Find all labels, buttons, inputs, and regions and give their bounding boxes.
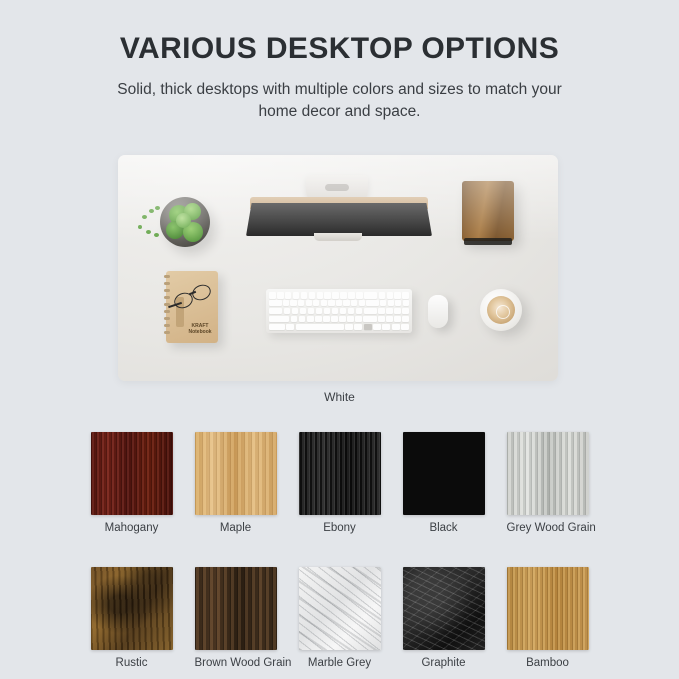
coffee-surface [487, 296, 515, 324]
keyboard-row [269, 324, 409, 331]
swatch-grid: Mahogany Maple Ebony Black Grey Wood Gra… [0, 432, 679, 671]
swatch-color-ebony[interactable] [299, 432, 381, 515]
swatch-label: Maple [195, 522, 277, 536]
plant-tendril [138, 225, 142, 229]
hero-caption: White [0, 390, 679, 404]
swatch-item-brown-wood-grain[interactable]: Brown Wood Grain [195, 567, 277, 671]
keyboard-row [269, 308, 409, 315]
monitor-foot [314, 233, 362, 241]
plant-tendril [154, 233, 159, 237]
swatch-color-graphite[interactable] [403, 567, 485, 650]
monitor-screen [246, 203, 432, 236]
plant-tendril [149, 209, 154, 213]
succulent-leaf [176, 213, 191, 228]
plant-tendril [155, 206, 160, 210]
kraft-notebook: KRAFT Notebook [166, 271, 218, 343]
wooden-storage-box [462, 181, 514, 241]
eyeglasses-icon [172, 283, 218, 313]
swatch-color-maple[interactable] [195, 432, 277, 515]
coffee-cup [480, 289, 522, 331]
swatch-color-rustic[interactable] [91, 567, 173, 650]
potted-plant-icon [160, 197, 210, 247]
hero-desk-photo: KRAFT Notebook [118, 155, 558, 381]
swatch-color-mahogany[interactable] [91, 432, 173, 515]
header: VARIOUS DESKTOP OPTIONS Solid, thick des… [0, 0, 679, 124]
swatch-label: Grey Wood Grain [507, 522, 589, 536]
swatch-row-2: Rustic Brown Wood Grain Marble Grey Grap… [0, 567, 679, 671]
swatch-label: Ebony [299, 522, 381, 536]
keyboard-row [269, 300, 409, 307]
swatch-label: Rustic [91, 657, 173, 671]
swatch-item-rustic[interactable]: Rustic [91, 567, 173, 671]
swatch-item-marble-grey[interactable]: Marble Grey [299, 567, 381, 671]
page-title: VARIOUS DESKTOP OPTIONS [0, 32, 679, 65]
plant-tendril [146, 230, 151, 234]
swatch-label: Mahogany [91, 522, 173, 536]
swatch-label: Bamboo [507, 657, 589, 671]
swatch-color-brown-wood-grain[interactable] [195, 567, 277, 650]
swatch-item-bamboo[interactable]: Bamboo [507, 567, 589, 671]
swatch-item-grey-wood-grain[interactable]: Grey Wood Grain [507, 432, 589, 536]
swatch-item-black[interactable]: Black [403, 432, 485, 536]
swatch-label: Black [403, 522, 485, 536]
swatch-label: Graphite [403, 657, 485, 671]
latte-swirl [496, 305, 510, 319]
notebook-label: KRAFT Notebook [184, 323, 216, 337]
keyboard [266, 289, 412, 333]
keyboard-row [269, 292, 409, 299]
swatch-item-maple[interactable]: Maple [195, 432, 277, 536]
swatch-color-grey-wood-grain[interactable] [507, 432, 589, 515]
keyboard-row [269, 316, 409, 323]
desk-surface: KRAFT Notebook [118, 155, 558, 381]
swatch-item-mahogany[interactable]: Mahogany [91, 432, 173, 536]
computer-mouse [428, 295, 448, 328]
desktop-options-infographic: VARIOUS DESKTOP OPTIONS Solid, thick des… [0, 0, 679, 679]
plant-tendril [142, 215, 147, 219]
page-subtitle: Solid, thick desktops with multiple colo… [100, 79, 580, 124]
swatch-color-marble-grey[interactable] [299, 567, 381, 650]
swatch-color-bamboo[interactable] [507, 567, 589, 650]
swatch-item-graphite[interactable]: Graphite [403, 567, 485, 671]
swatch-row-1: Mahogany Maple Ebony Black Grey Wood Gra… [0, 432, 679, 536]
swatch-item-ebony[interactable]: Ebony [299, 432, 381, 536]
swatch-color-black[interactable] [403, 432, 485, 515]
monitor [246, 175, 432, 237]
swatch-label: Marble Grey [299, 657, 381, 671]
swatch-label: Brown Wood Grain [195, 657, 277, 671]
